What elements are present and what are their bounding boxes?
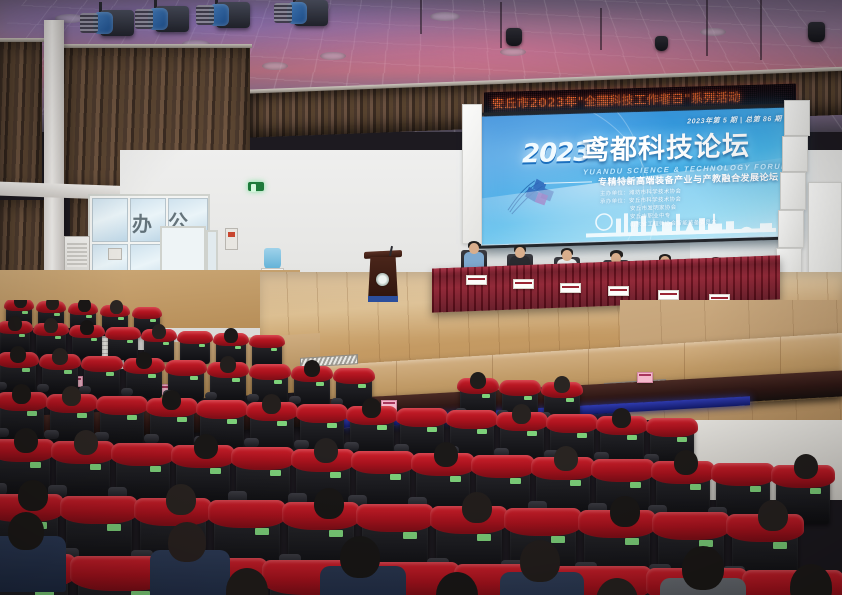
audience-head [362, 398, 381, 418]
audience-head [166, 484, 196, 515]
led-screen-content: 2023年第 5 期 | 总第 86 期 2023 鸢都科技论坛 YUANDU … [482, 107, 794, 244]
acoustic-panel [778, 210, 804, 248]
acoustic-panel [782, 136, 808, 172]
forum-title-cn: 鸢都科技论坛 [582, 133, 750, 165]
rigging-cable [500, 2, 502, 48]
audience-head [462, 492, 492, 523]
ceiling-spotlight [808, 22, 825, 42]
acoustic-panel [808, 182, 842, 282]
forum-year: 2023 [522, 139, 590, 167]
audience-head [168, 522, 206, 562]
audience-head [314, 438, 338, 463]
audience-head [152, 324, 166, 339]
issue-number-text: 2023年第 5 期 | 总第 86 期 [687, 114, 782, 127]
ceiling-vent [320, 52, 346, 60]
audience-head [262, 394, 281, 414]
audience-head [78, 300, 91, 312]
audience-head [512, 404, 531, 424]
water-bottle [264, 248, 281, 270]
rigging-cable [420, 0, 422, 34]
seat[interactable] [84, 360, 120, 396]
name-card [608, 286, 629, 296]
rigging-cable [600, 8, 602, 50]
name-card [513, 279, 534, 289]
audience-head [220, 356, 236, 373]
curtain-rail [62, 44, 252, 48]
door-character-left: 办 [132, 208, 152, 237]
audience-head [304, 360, 320, 377]
ceiling-vent [262, 62, 288, 70]
ceiling-vent [430, 12, 460, 21]
speaker-podium [366, 251, 400, 305]
acoustic-panel [462, 104, 482, 244]
ceiling-vent [700, 28, 726, 36]
audience-head [136, 352, 152, 369]
glass-pane [92, 198, 128, 242]
name-card [560, 283, 581, 293]
audience-head [12, 384, 31, 404]
audience-head [18, 480, 48, 511]
seat[interactable] [100, 400, 144, 444]
audience-seating [0, 300, 842, 595]
audience-head [194, 434, 218, 459]
audience-head [162, 390, 181, 410]
acoustic-panel [784, 100, 810, 136]
audience-head [794, 454, 818, 479]
audience-head [80, 320, 94, 335]
audience-head [74, 430, 98, 455]
audience-head [14, 428, 38, 453]
stage-led-display: 安丘市2023年"全国科技工作者日"系列活动 [482, 88, 800, 248]
wall-control-panel[interactable] [225, 228, 238, 250]
ceiling-spotlight [506, 28, 522, 46]
seat[interactable] [236, 452, 290, 506]
rigging-cable [706, 0, 708, 56]
podium-emblem [376, 273, 389, 286]
audience-head [44, 318, 58, 333]
rigging-cable [760, 0, 762, 60]
audience-head [10, 346, 26, 363]
curtain-rail [0, 38, 44, 42]
name-card [658, 290, 679, 300]
audience-head [674, 450, 698, 475]
audience-head [340, 536, 380, 578]
audience-head [470, 372, 486, 389]
audience-head [682, 546, 724, 590]
audience-head [434, 442, 458, 467]
audience-head [8, 512, 44, 550]
audience-head [610, 496, 640, 527]
auditorium-photo: 办 公 安丘市2023年"全国科技工作者日"系列活动 [0, 0, 842, 595]
ceiling-spotlight [655, 36, 668, 51]
wall-notice-box [108, 248, 122, 260]
seat[interactable] [116, 448, 170, 502]
audience-head [520, 540, 560, 582]
audience-head [790, 564, 832, 595]
audience-head [8, 316, 22, 331]
audience-head [758, 500, 788, 531]
exit-sign [248, 182, 264, 191]
audience-head [224, 328, 238, 343]
audience-head [52, 348, 68, 365]
name-card [466, 275, 487, 285]
ceiling-vent [500, 48, 526, 56]
audience-head [612, 408, 631, 428]
audience-head [554, 446, 578, 471]
audience-head [554, 376, 570, 393]
audience-head [110, 300, 123, 314]
audience-head [62, 386, 81, 406]
acoustic-panel [780, 172, 806, 210]
audience-head [314, 488, 344, 519]
seat[interactable] [356, 456, 410, 510]
